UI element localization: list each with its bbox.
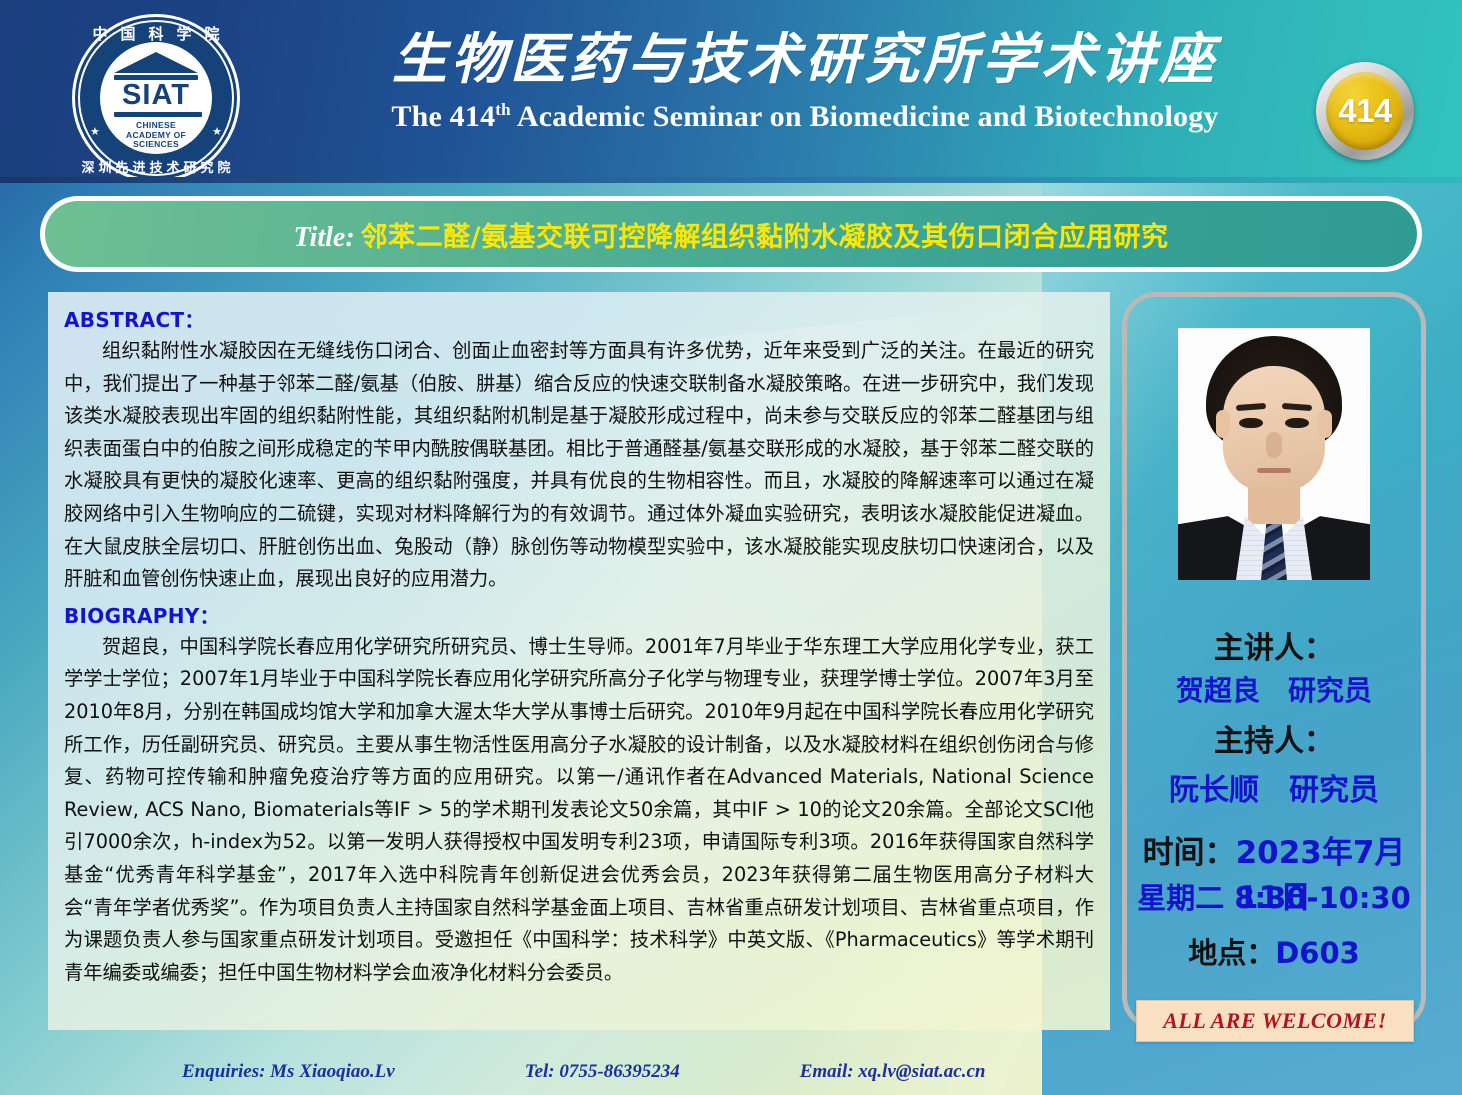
logo-star-right-icon: ★ (212, 125, 222, 138)
footer-telephone: Tel: 0755-86395234 (525, 1061, 680, 1083)
biography-heading: BIOGRAPHY： (64, 600, 1094, 629)
speaker-portrait (1178, 328, 1370, 580)
title-value: 邻苯二醛/氨基交联可控降解组织黏附水凝胶及其伤口闭合应用研究 (361, 222, 1169, 253)
welcome-text: ALL ARE WELCOME! (1163, 1008, 1387, 1034)
speaker-label: 主讲人： (1122, 623, 1426, 667)
speaker-name: 贺超良 研究员 (1122, 669, 1426, 709)
host-name: 阮长顺 研究员 (1122, 765, 1426, 809)
portrait-eye-left (1239, 418, 1263, 428)
title-bar: Title:邻苯二醛/氨基交联可控降解组织黏附水凝胶及其伤口闭合应用研究 (40, 196, 1422, 272)
logo-temple-emblem-icon: SIAT CHINESE ACADEMY OF SCIENCES (114, 52, 198, 150)
header-banner: 中国科学院 深圳先进技术研究院 ★ ★ SIAT CHINESE ACADEMY… (0, 0, 1462, 183)
time-range-value: 8:30-10:30 (1234, 881, 1410, 915)
logo-acronym: SIAT (114, 80, 198, 111)
header-title-group: 生物医药与技术研究所学术讲座 The 414th Academic Semina… (300, 26, 1310, 134)
welcome-banner: ALL ARE WELCOME! (1136, 1000, 1414, 1042)
weekday-value: 星期二 (1137, 881, 1224, 915)
portrait-face (1223, 366, 1325, 492)
title-bar-inner: Title:邻苯二醛/氨基交联可控降解组织黏附水凝胶及其伤口闭合应用研究 (45, 201, 1417, 267)
weekday-time-row: 星期二 8:30-10:30 (1122, 875, 1426, 917)
title-label: Title: (293, 222, 354, 253)
footer: Enquiries: Ms Xiaoqiao.Lv Tel: 0755-8639… (0, 1052, 1110, 1092)
footer-email: Email: xq.lv@siat.ac.cn (800, 1061, 986, 1083)
portrait-ear-left (1216, 410, 1230, 438)
seminar-poster: 中国科学院 深圳先进技术研究院 ★ ★ SIAT CHINESE ACADEMY… (0, 0, 1462, 1095)
venue-value: D603 (1275, 936, 1360, 970)
logo-english-line3: SCIENCES (114, 140, 198, 150)
portrait-ear-right (1318, 410, 1332, 438)
portrait-neck (1248, 488, 1300, 524)
seminar-title-ordinal-suffix: th (495, 100, 511, 119)
biography-body: 贺超良，中国科学院长春应用化学研究所研究员、博士生导师。2001年7月毕业于华东… (64, 631, 1094, 990)
portrait-nose (1266, 432, 1282, 458)
content-panel: ABSTRACT： 组织黏附性水凝胶因在无缝线伤口闭合、创面止血密封等方面具有许… (48, 292, 1110, 1030)
portrait-eye-right (1285, 418, 1309, 428)
abstract-body: 组织黏附性水凝胶因在无缝线伤口闭合、创面止血密封等方面具有许多优势，近年来受到广… (64, 335, 1094, 596)
badge-number-text: 414 (1338, 92, 1392, 130)
time-label: 时间： (1143, 835, 1236, 871)
seminar-title-english-prefix: The 414 (391, 100, 495, 133)
logo-star-left-icon: ★ (90, 125, 100, 138)
seminar-title-chinese: 生物医药与技术研究所学术讲座 (300, 26, 1310, 92)
seminar-number-badge: 414 (1316, 62, 1414, 160)
badge-gold-disc: 414 (1326, 72, 1404, 150)
venue-row: 地点：D603 (1122, 930, 1426, 972)
portrait-mouth (1257, 468, 1291, 473)
abstract-heading: ABSTRACT： (64, 304, 1094, 333)
logo-english-text: CHINESE ACADEMY OF SCIENCES (114, 121, 198, 150)
seminar-title-english-rest: Academic Seminar on Biomedicine and Biot… (511, 100, 1219, 133)
venue-label: 地点： (1188, 936, 1275, 970)
logo-chinese-bottom-text: 深圳先进技术研究院 (72, 157, 240, 176)
seminar-title-english: The 414th Academic Seminar on Biomedicin… (300, 100, 1310, 134)
logo-roof-shape (114, 52, 198, 73)
logo-chinese-top-text: 中国科学院 (72, 23, 240, 44)
footer-enquiries: Enquiries: Ms Xiaoqiao.Lv (182, 1061, 395, 1083)
logo-base-bar (114, 112, 202, 117)
siat-logo: 中国科学院 深圳先进技术研究院 ★ ★ SIAT CHINESE ACADEMY… (72, 14, 240, 182)
host-label: 主持人： (1122, 716, 1426, 760)
title-text-group: Title:邻苯二醛/氨基交联可控降解组织黏附水凝胶及其伤口闭合应用研究 (293, 215, 1168, 254)
